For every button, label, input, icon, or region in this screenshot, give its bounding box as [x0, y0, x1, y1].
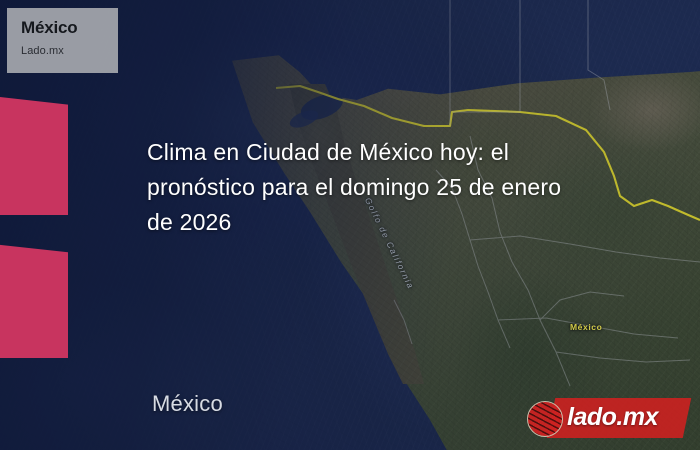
site-domain-label: Lado.mx — [21, 43, 118, 59]
radial-burst-streaks — [528, 402, 562, 436]
footer-country-label: México — [152, 391, 223, 417]
radial-burst-icon — [527, 401, 563, 437]
logo-wordmark: lado.mx — [567, 403, 658, 432]
lado-mx-logo[interactable]: lado.mx — [527, 396, 687, 442]
article-headline: Clima en Ciudad de México hoy: el pronós… — [147, 135, 567, 240]
accent-shape-bottom — [0, 243, 68, 358]
site-brand-name: México — [21, 18, 118, 38]
article-hero-screenshot: Golfo de California México México Lado.m… — [0, 0, 700, 450]
site-badge[interactable]: México Lado.mx — [7, 8, 118, 73]
accent-shape-top — [0, 95, 68, 215]
